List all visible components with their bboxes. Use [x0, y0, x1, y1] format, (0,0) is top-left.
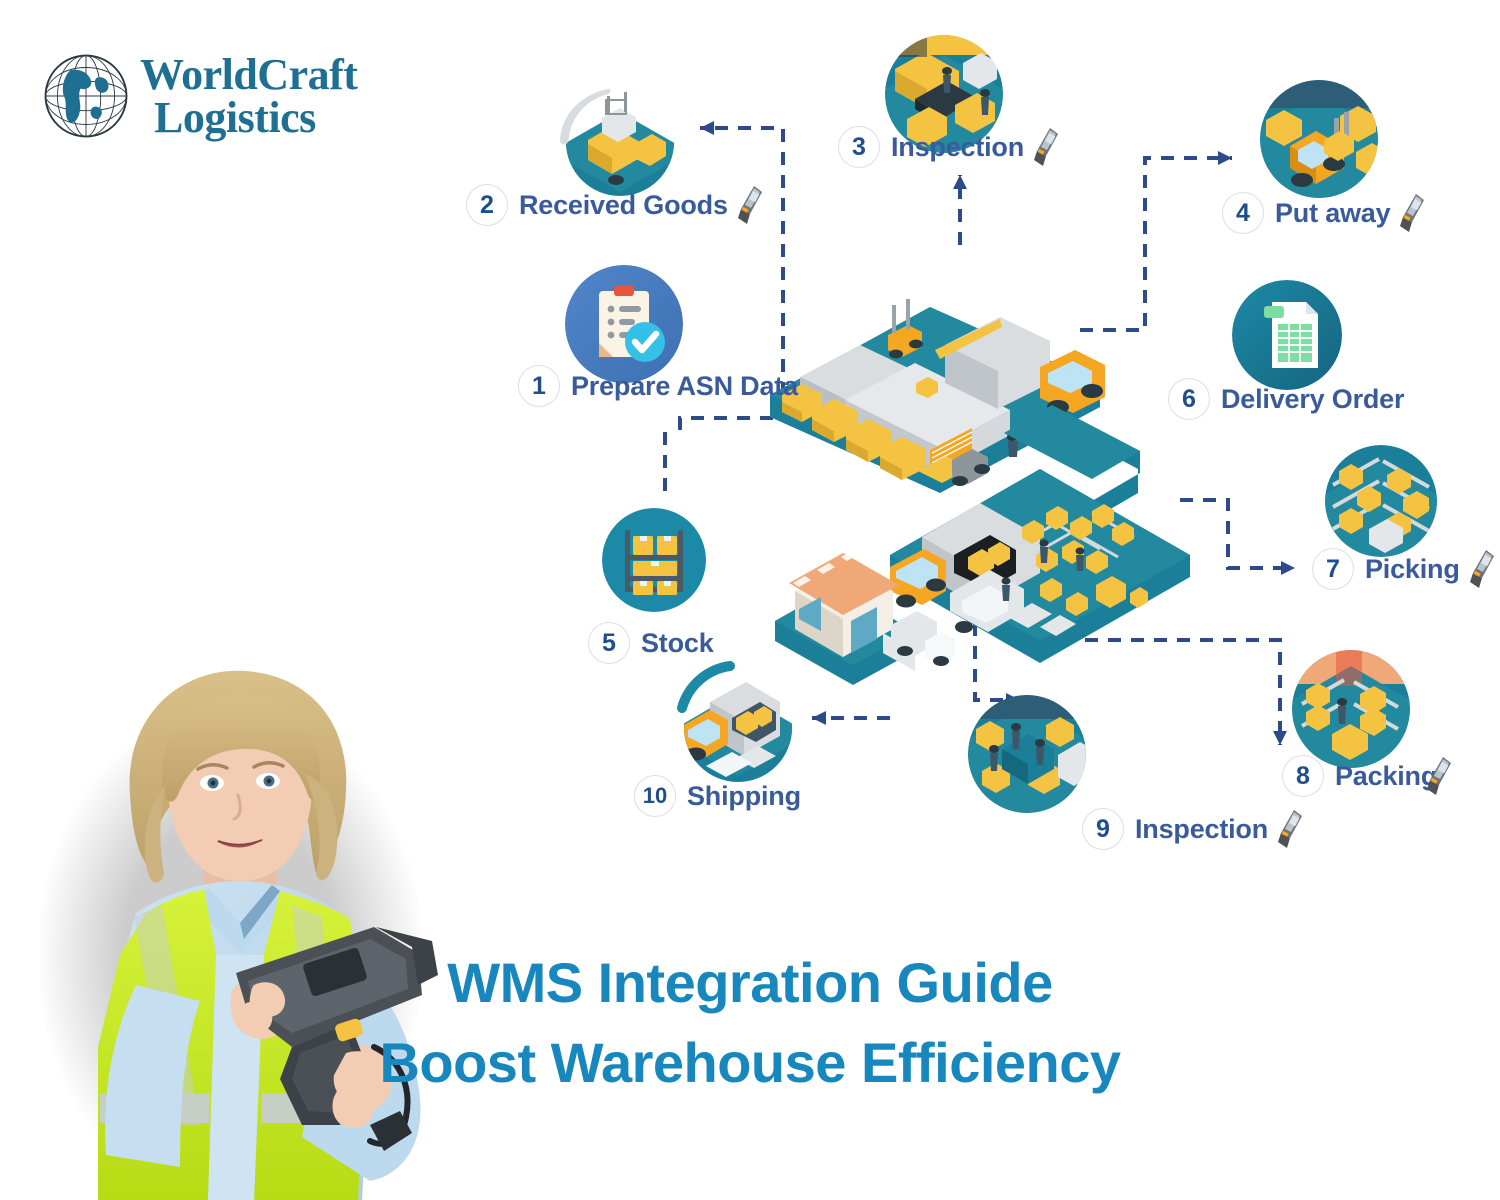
- step-text-9: Inspection: [1135, 814, 1268, 845]
- step-number-9: 9: [1082, 808, 1124, 850]
- step-number-1: 1: [518, 365, 560, 407]
- page-title-line-2: Boost Warehouse Efficiency: [0, 1030, 1500, 1095]
- page-title-line-1: WMS Integration Guide: [0, 950, 1500, 1015]
- inbound-warehouse-scene: [770, 299, 1105, 493]
- barcode-scanner-icon: [1030, 126, 1060, 168]
- retail-storefront-icon: [765, 525, 965, 685]
- packing-station-icon: [1292, 650, 1410, 768]
- step-label-9[interactable]: 9 Inspection: [1082, 808, 1304, 850]
- shelf-boxes-icon: [602, 508, 706, 612]
- step-text-5: Stock: [641, 628, 714, 659]
- spreadsheet-icon: [1232, 280, 1342, 390]
- step-number-3: 3: [838, 126, 880, 168]
- ship-unloading-icon: [560, 88, 680, 196]
- brand-line-1: WorldCraft: [140, 53, 357, 96]
- step-label-1[interactable]: 1 Prepare ASN Data: [518, 365, 798, 407]
- step-text-7: Picking: [1365, 554, 1460, 585]
- step-label-4[interactable]: 4 Put away: [1222, 192, 1426, 234]
- inspection-floor-icon: [968, 695, 1086, 813]
- forklift-storage-icon: [1260, 80, 1378, 198]
- step-label-10[interactable]: 10 Shipping: [634, 775, 801, 817]
- step-label-3[interactable]: 3 Inspection: [838, 126, 1060, 168]
- globe-icon: [40, 50, 132, 142]
- infographic-canvas: WorldCraft Logistics: [0, 0, 1500, 1200]
- brand-line-2: Logistics: [140, 96, 357, 139]
- step-number-8: 8: [1282, 755, 1324, 797]
- step-label-6[interactable]: 6 Delivery Order: [1168, 378, 1404, 420]
- barcode-scanner-icon: [1466, 548, 1496, 590]
- step-label-8[interactable]: 8 Packing: [1282, 755, 1453, 797]
- warehouse-worker-photo: [40, 655, 510, 1200]
- brand-logo: WorldCraft Logistics: [40, 50, 357, 142]
- step-number-5: 5: [588, 622, 630, 664]
- step-number-2: 2: [466, 184, 508, 226]
- step-label-2[interactable]: 2 Received Goods: [466, 184, 764, 226]
- picking-rack-icon: [1325, 445, 1437, 557]
- barcode-scanner-icon: [1396, 192, 1426, 234]
- step-number-10: 10: [634, 775, 676, 817]
- barcode-scanner-icon: [1423, 755, 1453, 797]
- step-label-7[interactable]: 7 Picking: [1312, 548, 1496, 590]
- barcode-scanner-icon: [734, 184, 764, 226]
- step-text-4: Put away: [1275, 198, 1390, 229]
- step-number-7: 7: [1312, 548, 1354, 590]
- step-text-3: Inspection: [891, 132, 1024, 163]
- step-number-6: 6: [1168, 378, 1210, 420]
- step-text-8: Packing: [1335, 761, 1437, 792]
- truck-loading-icon: [676, 662, 800, 786]
- barcode-scanner-icon: [1274, 808, 1304, 850]
- step-label-5[interactable]: 5 Stock: [588, 622, 714, 664]
- step-text-10: Shipping: [687, 781, 801, 812]
- step-number-4: 4: [1222, 192, 1264, 234]
- step-text-1: Prepare ASN Data: [571, 371, 798, 402]
- step-text-2: Received Goods: [519, 190, 728, 221]
- step-text-6: Delivery Order: [1221, 384, 1404, 415]
